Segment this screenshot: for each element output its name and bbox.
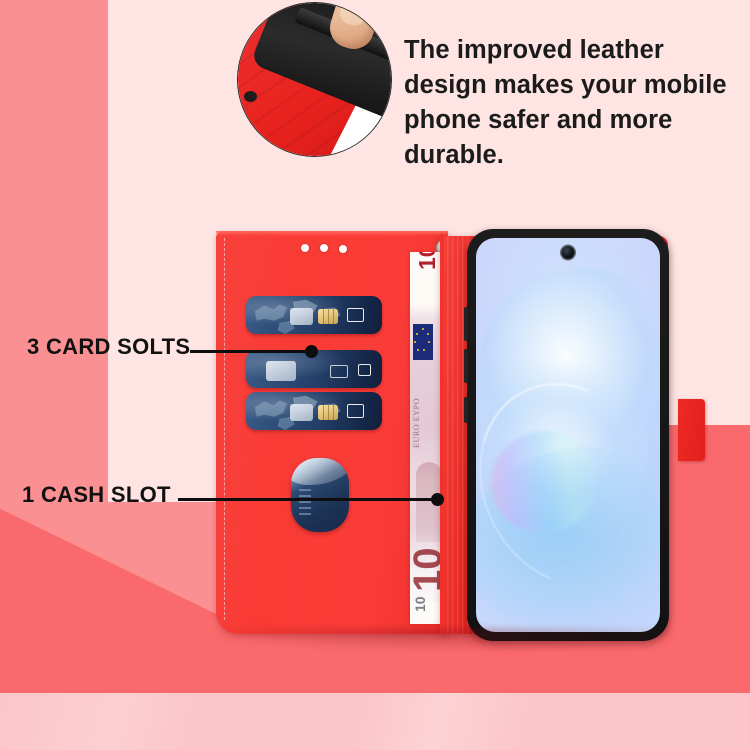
background-wall-left bbox=[0, 0, 108, 533]
product-infographic: The improved leather design makes your m… bbox=[0, 0, 750, 750]
callout-line-cash-slot bbox=[178, 498, 438, 501]
card-slot-3 bbox=[246, 392, 382, 430]
card-hologram bbox=[266, 361, 296, 381]
callout-dot-card-slots bbox=[305, 345, 318, 358]
card-chip-icon bbox=[318, 405, 338, 420]
front-camera-icon bbox=[562, 246, 575, 259]
callout-label-cash-slot: 1 CASH SLOT bbox=[22, 482, 171, 508]
card-chip-icon bbox=[318, 309, 338, 324]
card-hologram bbox=[290, 404, 313, 421]
card-logo-icon bbox=[330, 365, 348, 378]
card-contactless-icon bbox=[358, 364, 371, 376]
card-contactless-icon bbox=[347, 404, 364, 418]
cash-slot-pocket bbox=[291, 458, 349, 532]
volume-up-button[interactable] bbox=[464, 307, 468, 341]
callout-label-card-slots: 3 CARD SOLTS bbox=[27, 334, 190, 360]
power-button[interactable] bbox=[464, 397, 468, 423]
banknote-value-bottom: 10 bbox=[412, 596, 428, 612]
volume-down-button[interactable] bbox=[464, 349, 468, 383]
card-slot-1 bbox=[246, 296, 382, 334]
phone-screen[interactable] bbox=[476, 238, 660, 632]
leather-closeup-inset bbox=[237, 2, 392, 157]
card-hologram bbox=[290, 308, 313, 325]
smartphone bbox=[467, 229, 669, 641]
background-floor-corner-wedge bbox=[0, 502, 220, 693]
callout-line-card-slots bbox=[190, 350, 312, 353]
case-hole-1 bbox=[301, 244, 309, 252]
case-hole-3 bbox=[339, 245, 347, 253]
magnetic-closure-tab bbox=[678, 399, 705, 461]
case-top-highlight bbox=[216, 231, 448, 236]
case-hole-2 bbox=[320, 244, 328, 252]
banknote-value-top: 10 bbox=[414, 252, 441, 270]
callout-dot-cash-slot bbox=[431, 493, 444, 506]
headline-text: The improved leather design makes your m… bbox=[404, 33, 742, 173]
eu-flag-icon bbox=[413, 324, 433, 360]
case-stitching-left bbox=[224, 238, 225, 620]
cash-slot-texture bbox=[297, 488, 313, 518]
product-floor-shadow bbox=[215, 628, 670, 650]
card-contactless-icon bbox=[347, 308, 364, 322]
inset-camera-dot bbox=[244, 91, 257, 102]
banknote-currency-text: EURO EYPO bbox=[412, 398, 421, 448]
cash-slot-highlight bbox=[291, 458, 349, 491]
background-foreground-band bbox=[0, 693, 750, 750]
